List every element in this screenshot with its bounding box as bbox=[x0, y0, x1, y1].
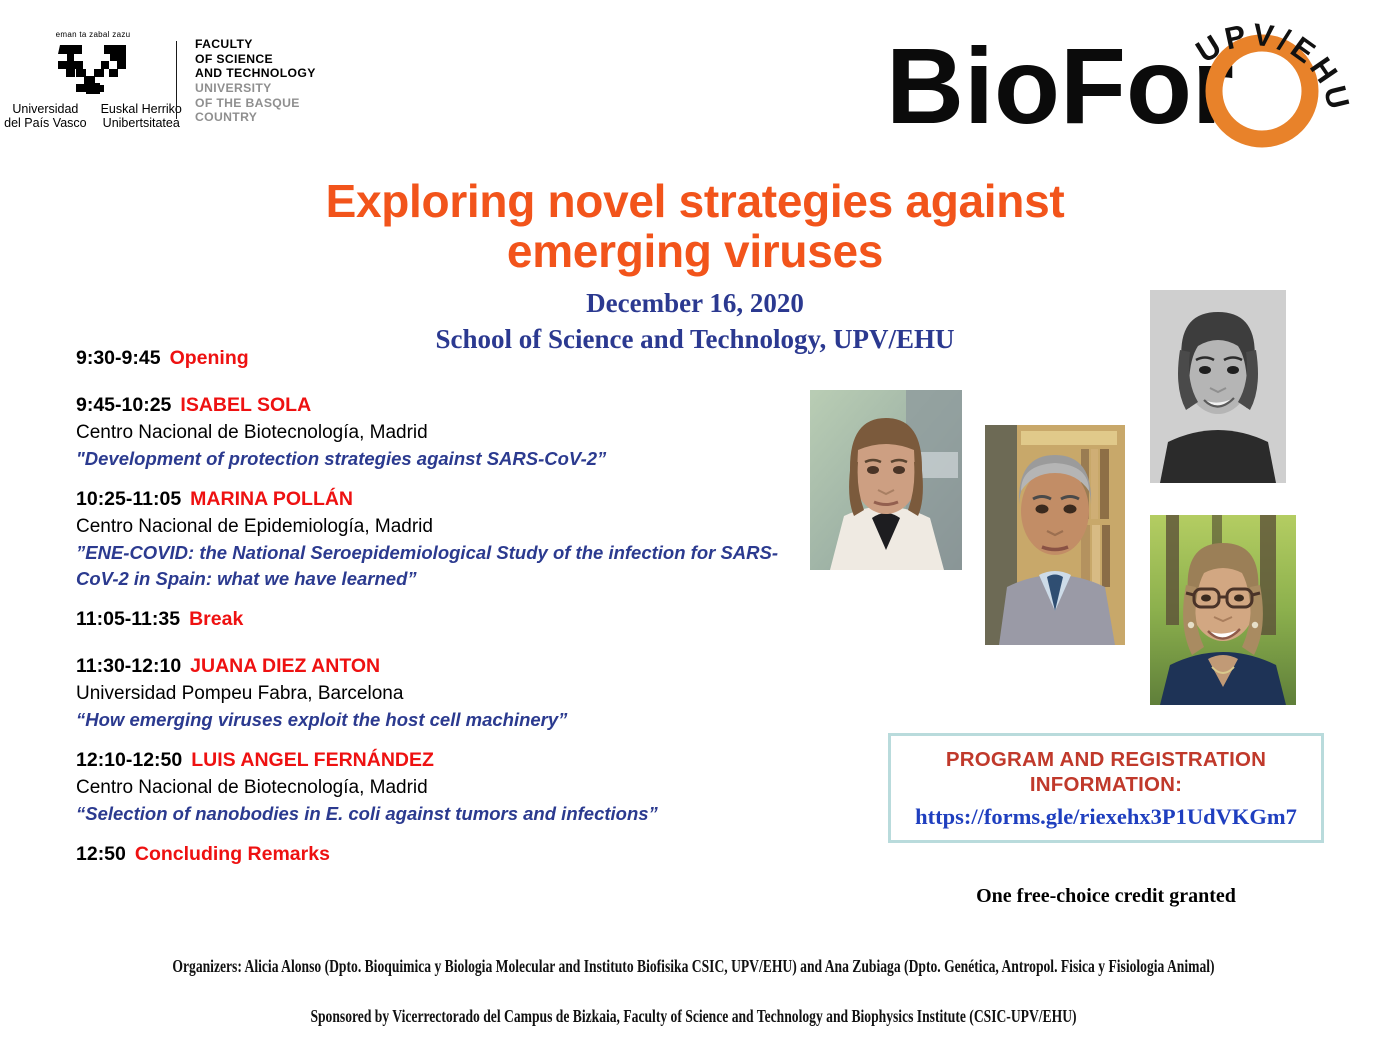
slot-time: 12:50 bbox=[76, 843, 126, 865]
event-title-line-1: Exploring novel strategies against bbox=[180, 176, 1210, 226]
speaker-affiliation: Universidad Pompeu Fabra, Barcelona bbox=[76, 680, 866, 707]
upv-name-eu-line2: Unibertsitatea bbox=[101, 116, 182, 130]
speaker-name: JUANA DIEZ ANTON bbox=[190, 655, 380, 677]
upv-names: Universidad del País Vasco Euskal Herrik… bbox=[4, 97, 182, 130]
upv-ehu-logo: eman ta zabal zazu Universidad del País … bbox=[18, 28, 378, 132]
slot-header: 12:10-12:50LUIS ANGEL FERNÁNDEZ bbox=[76, 747, 866, 774]
talk-title: “Selection of nanobodies in E. coli agai… bbox=[76, 801, 866, 827]
program-schedule: 9:30-9:45Opening 9:45-10:25ISABEL SOLA C… bbox=[76, 345, 866, 888]
upv-crest-icon bbox=[50, 41, 136, 97]
speaker-photo-juana-diez-anton bbox=[1150, 290, 1286, 483]
upv-name-eu-line1: Euskal Herriko bbox=[101, 102, 182, 116]
speaker-name: MARINA POLLÁN bbox=[190, 488, 353, 510]
logo-divider bbox=[176, 41, 177, 119]
bioforo-wordmark-text: BioFor bbox=[886, 25, 1234, 146]
slot-header: 9:45-10:25ISABEL SOLA bbox=[76, 392, 866, 419]
slot-header: 10:25-11:05MARINA POLLÁN bbox=[76, 486, 866, 513]
program-slot: 9:45-10:25ISABEL SOLA Centro Nacional de… bbox=[76, 392, 866, 472]
slot-time: 9:30-9:45 bbox=[76, 347, 161, 369]
speaker-affiliation: Centro Nacional de Biotecnología, Madrid bbox=[76, 419, 866, 446]
speaker-photo-isabel-sola bbox=[810, 390, 962, 570]
program-slot: 11:05-11:35Break bbox=[76, 606, 866, 633]
speaker-photo-luis-angel-fernandez bbox=[985, 425, 1125, 645]
registration-url-link[interactable]: https://forms.gle/riexehx3P1UdVKGm7 bbox=[915, 804, 1297, 830]
page-title: Exploring novel strategies against emerg… bbox=[180, 176, 1210, 276]
event-date: December 16, 2020 bbox=[180, 285, 1210, 321]
talk-title: "Development of protection strategies ag… bbox=[76, 446, 866, 472]
speaker-affiliation: Centro Nacional de Biotecnología, Madrid bbox=[76, 774, 866, 801]
registration-title: PROGRAM AND REGISTRATION INFORMATION: bbox=[946, 747, 1266, 797]
program-slot: 9:30-9:45Opening bbox=[76, 345, 866, 372]
slot-time: 12:10-12:50 bbox=[76, 749, 182, 771]
slot-header: 12:50Concluding Remarks bbox=[76, 841, 866, 868]
upv-name-es-line2: del País Vasco bbox=[4, 116, 86, 130]
slot-time: 11:30-12:10 bbox=[76, 655, 181, 677]
credit-note: One free-choice credit granted bbox=[888, 885, 1324, 908]
upv-crest-block: eman ta zabal zazu Universidad del País … bbox=[18, 30, 168, 130]
footer-organizers: Organizers: Alicia Alonso (Dpto. Bioquim… bbox=[0, 956, 1387, 978]
talk-title: ”ENE-COVID: the National Seroepidemiolog… bbox=[76, 540, 806, 592]
slot-time: 11:05-11:35 bbox=[76, 608, 180, 630]
speaker-name: LUIS ANGEL FERNÁNDEZ bbox=[191, 749, 434, 771]
slot-title: Concluding Remarks bbox=[135, 843, 330, 865]
faculty-line-3: AND TECHNOLOGY bbox=[195, 66, 316, 81]
program-slot: 12:50Concluding Remarks bbox=[76, 841, 866, 868]
slot-header: 9:30-9:45Opening bbox=[76, 345, 866, 372]
upv-motto: eman ta zabal zazu bbox=[56, 30, 131, 39]
bioforo-logo: BioFor UPV/EHU bbox=[880, 8, 1350, 173]
slot-header: 11:30-12:10JUANA DIEZ ANTON bbox=[76, 653, 866, 680]
talk-title: “How emerging viruses exploit the host c… bbox=[76, 707, 866, 733]
registration-info-box[interactable]: PROGRAM AND REGISTRATION INFORMATION: ht… bbox=[888, 733, 1324, 843]
slot-time: 9:45-10:25 bbox=[76, 394, 171, 416]
slot-title: Opening bbox=[170, 347, 249, 369]
speaker-photo-marina-pollan bbox=[1150, 515, 1296, 705]
registration-title-line-2: INFORMATION: bbox=[946, 772, 1266, 797]
footer-sponsor: Sponsored by Vicerrectorado del Campus d… bbox=[0, 1006, 1387, 1028]
faculty-line-1: FACULTY bbox=[195, 37, 316, 52]
slot-title: Break bbox=[189, 608, 243, 630]
speaker-affiliation: Centro Nacional de Epidemiología, Madrid bbox=[76, 513, 866, 540]
program-slot: 12:10-12:50LUIS ANGEL FERNÁNDEZ Centro N… bbox=[76, 747, 866, 827]
footer: Organizers: Alicia Alonso (Dpto. Bioquim… bbox=[0, 952, 1387, 1022]
faculty-line-6: COUNTRY bbox=[195, 110, 316, 125]
program-slot: 11:30-12:10JUANA DIEZ ANTON Universidad … bbox=[76, 653, 866, 733]
faculty-line-2: OF SCIENCE bbox=[195, 52, 316, 67]
faculty-name-block: FACULTY OF SCIENCE AND TECHNOLOGY UNIVER… bbox=[195, 35, 316, 125]
event-title-line-2: emerging viruses bbox=[180, 226, 1210, 276]
slot-time: 10:25-11:05 bbox=[76, 488, 181, 510]
program-slot: 10:25-11:05MARINA POLLÁN Centro Nacional… bbox=[76, 486, 866, 592]
speaker-name: ISABEL SOLA bbox=[180, 394, 311, 416]
faculty-line-4: UNIVERSITY bbox=[195, 81, 316, 96]
registration-title-line-1: PROGRAM AND REGISTRATION bbox=[946, 747, 1266, 772]
faculty-line-5: OF THE BASQUE bbox=[195, 96, 316, 111]
slot-header: 11:05-11:35Break bbox=[76, 606, 866, 633]
upv-name-es-line1: Universidad bbox=[4, 102, 86, 116]
